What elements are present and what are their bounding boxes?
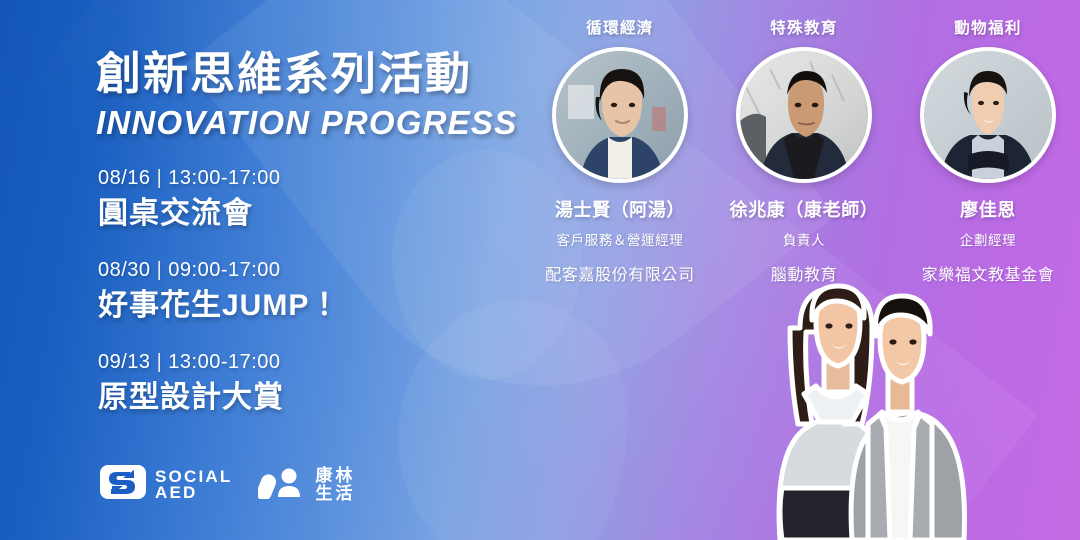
- speaker-avatar: [736, 47, 872, 183]
- speaker-card: 動物福利: [896, 16, 1080, 285]
- event-date: 08/30: [98, 259, 151, 281]
- speaker-role: 客戶服務＆營運經理: [557, 229, 684, 249]
- event-date: 09/13: [98, 351, 151, 373]
- poster-title-chinese: 創新思維系列活動: [96, 48, 517, 100]
- event-meta-separator: |: [151, 351, 169, 373]
- social-aed-mark-icon: [100, 465, 146, 504]
- left-panel: 創新思維系列活動 INNOVATION PROGRESS 08/16|13:00…: [0, 0, 520, 540]
- title-block: 創新思維系列活動 INNOVATION PROGRESS: [96, 48, 517, 142]
- speaker-list: 循環經濟: [528, 16, 1080, 285]
- portrait-man-navy-jacket-icon: [556, 51, 684, 179]
- event-item: 08/16|13:00-17:00 圓桌交流會: [98, 163, 340, 233]
- event-meta: 09/13|13:00-17:00: [98, 347, 340, 377]
- speaker-name: 徐兆康（康老師）: [730, 196, 879, 222]
- speaker-org: 配客嘉股份有限公司: [545, 261, 694, 285]
- speaker-role: 負責人: [783, 229, 825, 249]
- event-item: 09/13|13:00-17:00 原型設計大賞: [98, 347, 340, 417]
- event-item: 08/30|09:00-17:00 好事花生JUMP！: [98, 255, 340, 325]
- logo-line-1: 康林: [315, 467, 355, 484]
- portrait-person-dark-blazer-icon: [924, 51, 1052, 179]
- event-title: 好事花生JUMP！: [98, 286, 340, 325]
- event-title: 圓桌交流會: [98, 194, 340, 233]
- portrait-man-navy-suit-icon: [740, 51, 868, 179]
- speaker-name: 湯士賢（阿湯）: [555, 196, 685, 222]
- hosts-cutout-photo: [720, 264, 968, 540]
- speaker-avatar: [920, 47, 1056, 183]
- event-time: 09:00-17:00: [168, 259, 280, 281]
- speaker-topic: 循環經濟: [586, 16, 654, 38]
- speaker-name: 廖佳恩: [960, 196, 1016, 222]
- logo-line-2: 生活: [315, 485, 355, 502]
- two-hosts-photo-icon: [720, 264, 968, 540]
- kanglin-wordmark: 康林 生活: [315, 467, 355, 502]
- social-aed-wordmark: SOCIAL AED: [155, 469, 232, 501]
- event-meta-separator: |: [151, 259, 169, 281]
- event-meta: 08/30|09:00-17:00: [98, 255, 340, 285]
- logo-row: SOCIAL AED 康林 生活: [100, 465, 355, 504]
- logo-line-2: AED: [155, 485, 232, 501]
- event-title: 原型設計大賞: [98, 378, 340, 417]
- event-meta: 08/16|13:00-17:00: [98, 163, 340, 193]
- speaker-topic: 動物福利: [954, 16, 1022, 38]
- speaker-avatar: [552, 47, 688, 183]
- logo-social-aed: SOCIAL AED: [100, 465, 232, 504]
- poster-title-english: INNOVATION PROGRESS: [96, 104, 517, 142]
- speaker-role: 企劃經理: [960, 229, 1016, 249]
- kanglin-people-mark-icon: [258, 465, 306, 504]
- event-time: 13:00-17:00: [168, 351, 280, 373]
- speaker-topic: 特殊教育: [770, 16, 838, 38]
- event-date: 08/16: [98, 167, 151, 189]
- event-list: 08/16|13:00-17:00 圓桌交流會 08/30|09:00-17:0…: [98, 163, 340, 417]
- speaker-card: 循環經濟: [528, 16, 712, 285]
- event-meta-separator: |: [151, 167, 169, 189]
- speaker-card: 特殊教育: [712, 16, 896, 285]
- logo-kanglin-life: 康林 生活: [258, 465, 355, 504]
- event-poster: 創新思維系列活動 INNOVATION PROGRESS 08/16|13:00…: [0, 0, 1080, 540]
- event-time: 13:00-17:00: [168, 167, 280, 189]
